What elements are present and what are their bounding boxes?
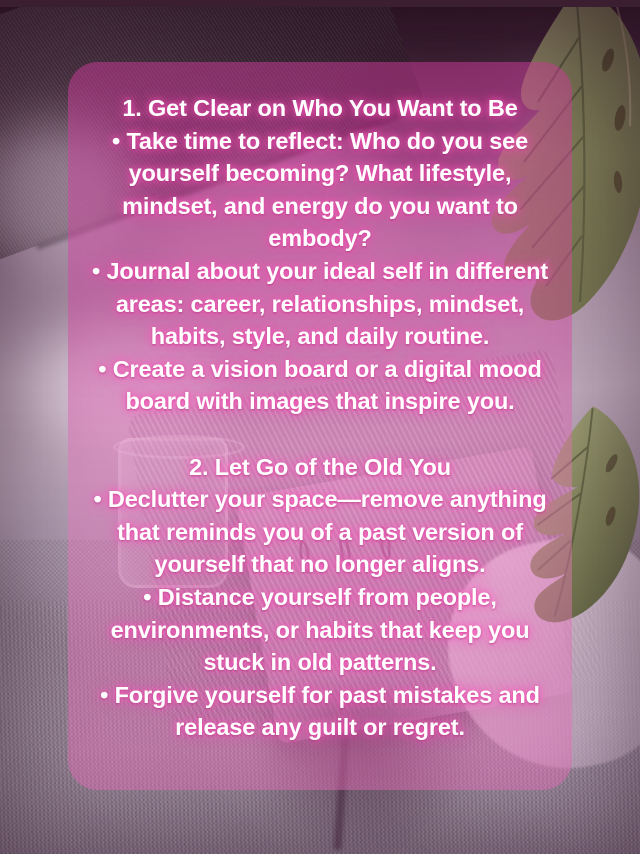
section-1-text: 1. Get Clear on Who You Want to Be • Tak… xyxy=(82,92,558,418)
slide-canvas: 1. Get Clear on Who You Want to Be • Tak… xyxy=(0,0,640,854)
top-edge-band xyxy=(0,0,640,7)
text-overlay-card: 1. Get Clear on Who You Want to Be • Tak… xyxy=(68,62,572,790)
section-gap xyxy=(82,418,558,451)
section-2-text: 2. Let Go of the Old You • Declutter you… xyxy=(82,451,558,744)
